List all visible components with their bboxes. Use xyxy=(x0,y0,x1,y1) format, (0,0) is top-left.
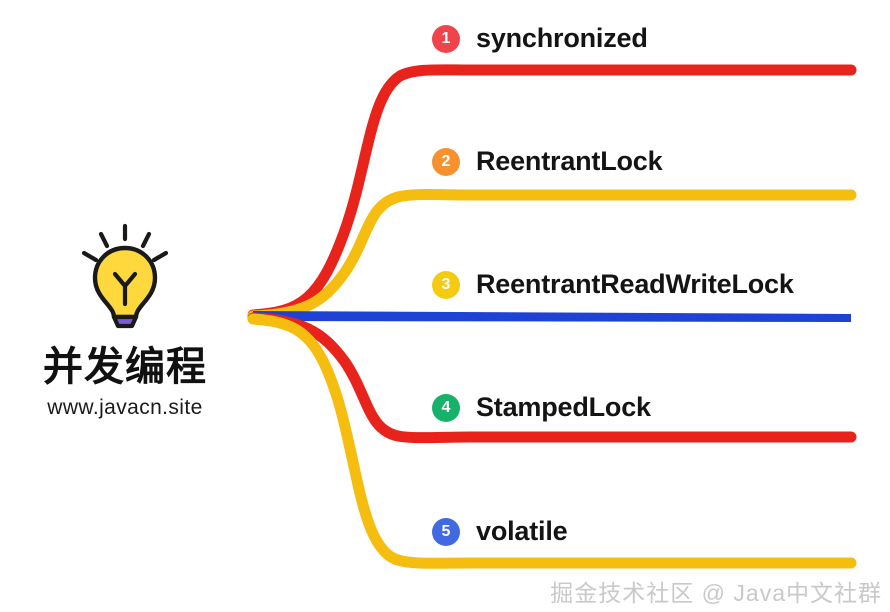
branch-badge-1: 1 xyxy=(432,25,460,53)
branch-label-4: StampedLock xyxy=(476,392,651,423)
page-title: 并发编程 xyxy=(0,346,250,388)
branch-label-1: synchronized xyxy=(476,23,648,54)
branch-badge-2: 2 xyxy=(432,148,460,176)
site-url: www.javacn.site xyxy=(0,396,250,420)
branch-badge-5: 5 xyxy=(432,518,460,546)
branch-item-reentrantlock[interactable]: 2 ReentrantLock xyxy=(432,146,662,177)
branch-label-5: volatile xyxy=(476,516,567,547)
branch-item-stampedlock[interactable]: 4 StampedLock xyxy=(432,392,651,423)
branch-label-3: ReentrantReadWriteLock xyxy=(476,269,794,300)
branch-badge-3: 3 xyxy=(432,271,460,299)
watermark-text: 掘金技术社区 @ Java中文社群 xyxy=(550,574,882,608)
branch-label-2: ReentrantLock xyxy=(476,146,662,177)
branch-item-synchronized[interactable]: 1 synchronized xyxy=(432,23,648,54)
lightbulb-glass-icon xyxy=(95,248,155,317)
mindmap-canvas: 并发编程 www.javacn.site 1 synchronized 2 Re… xyxy=(0,0,890,612)
lightbulb-icon xyxy=(77,222,173,330)
branch-badge-4: 4 xyxy=(432,394,460,422)
lightbulb-base-icon xyxy=(114,317,136,326)
center-node: 并发编程 www.javacn.site xyxy=(0,222,250,420)
branch-curve-3 xyxy=(253,311,851,322)
branch-item-volatile[interactable]: 5 volatile xyxy=(432,516,567,547)
branch-item-reentrantreadwritelock[interactable]: 3 ReentrantReadWriteLock xyxy=(432,269,794,300)
